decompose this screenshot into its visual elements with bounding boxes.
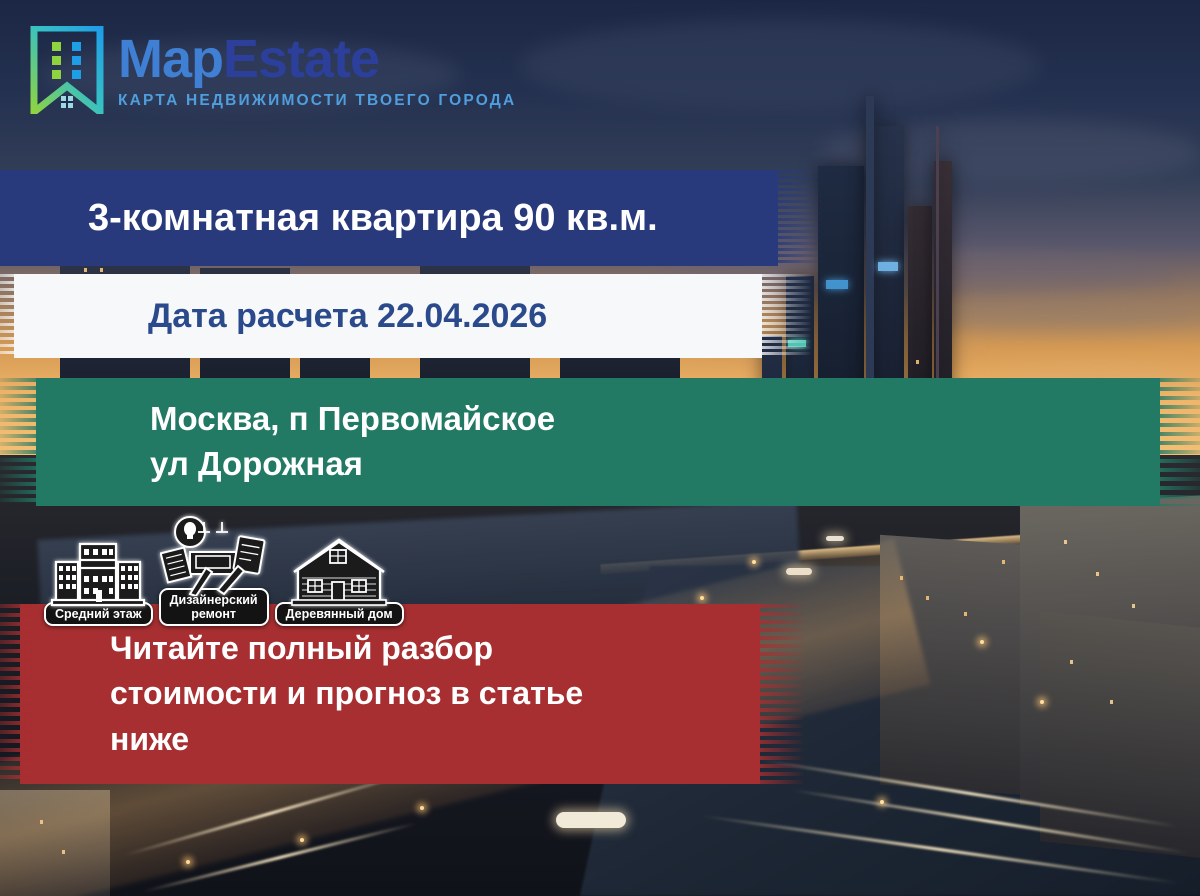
calculation-date: Дата расчета 22.04.2026 <box>148 297 762 336</box>
window-light <box>1110 700 1113 704</box>
address-line-2: ул Дорожная <box>150 442 1160 487</box>
wooden-house-icon <box>290 536 388 610</box>
window-light <box>878 262 898 271</box>
cta-line-1: Читайте полный разбор <box>110 626 760 671</box>
window-light <box>964 612 967 616</box>
window-light <box>826 280 848 289</box>
window-light <box>926 596 929 600</box>
bookmark-building-icon <box>30 26 104 114</box>
brand-name-part1: Map <box>118 29 223 89</box>
badge-wooden-house[interactable]: Деревянный дом <box>275 536 404 626</box>
street-lamp <box>980 640 984 644</box>
property-promo-card: MapEstate КАРТА НЕДВИЖИМОСТИ ТВОЕГО ГОРО… <box>0 0 1200 896</box>
window-light <box>1064 540 1067 544</box>
cta-line-3: ниже <box>110 717 760 762</box>
window-light <box>84 268 87 272</box>
window-light <box>1132 604 1135 608</box>
street-lamp <box>752 560 756 564</box>
window-light <box>100 268 103 272</box>
residential-building <box>1040 611 1200 859</box>
boat <box>826 536 844 541</box>
window-light <box>1096 572 1099 576</box>
badge-designer-renovation[interactable]: Дизайнерский ремонт <box>159 516 269 626</box>
cloud <box>520 20 1040 110</box>
window-light <box>916 360 919 364</box>
boat <box>556 812 626 828</box>
cta-line-2: стоимости и прогноз в статье <box>110 671 760 716</box>
cta-band[interactable]: Читайте полный разбор стоимости и прогно… <box>20 604 760 784</box>
calculation-date-band: Дата расчета 22.04.2026 <box>14 274 762 358</box>
window-light <box>1070 660 1073 664</box>
street-lamp <box>1040 700 1044 704</box>
brand-name-part2: Estate <box>223 29 379 89</box>
interior-design-icon <box>160 516 268 596</box>
feature-badges: Средний этаж <box>44 516 404 626</box>
badge-middle-floor[interactable]: Средний этаж <box>44 536 153 626</box>
address-line-1: Москва, п Первомайское <box>150 397 1160 442</box>
brand-logo[interactable]: MapEstate КАРТА НЕДВИЖИМОСТИ ТВОЕГО ГОРО… <box>30 26 516 114</box>
window-light <box>1002 560 1005 564</box>
brand-tagline: КАРТА НЕДВИЖИМОСТИ ТВОЕГО ГОРОДА <box>118 93 516 109</box>
brand-name: MapEstate <box>118 32 516 86</box>
address-band: Москва, п Первомайское ул Дорожная <box>36 378 1160 506</box>
page-title: 3-комнатная квартира 90 кв.м. <box>88 197 778 240</box>
apartment-building-icon <box>50 536 146 610</box>
title-band: 3-комнатная квартира 90 кв.м. <box>0 170 778 266</box>
window-light <box>788 340 806 347</box>
brand-text: MapEstate КАРТА НЕДВИЖИМОСТИ ТВОЕГО ГОРО… <box>118 32 516 109</box>
